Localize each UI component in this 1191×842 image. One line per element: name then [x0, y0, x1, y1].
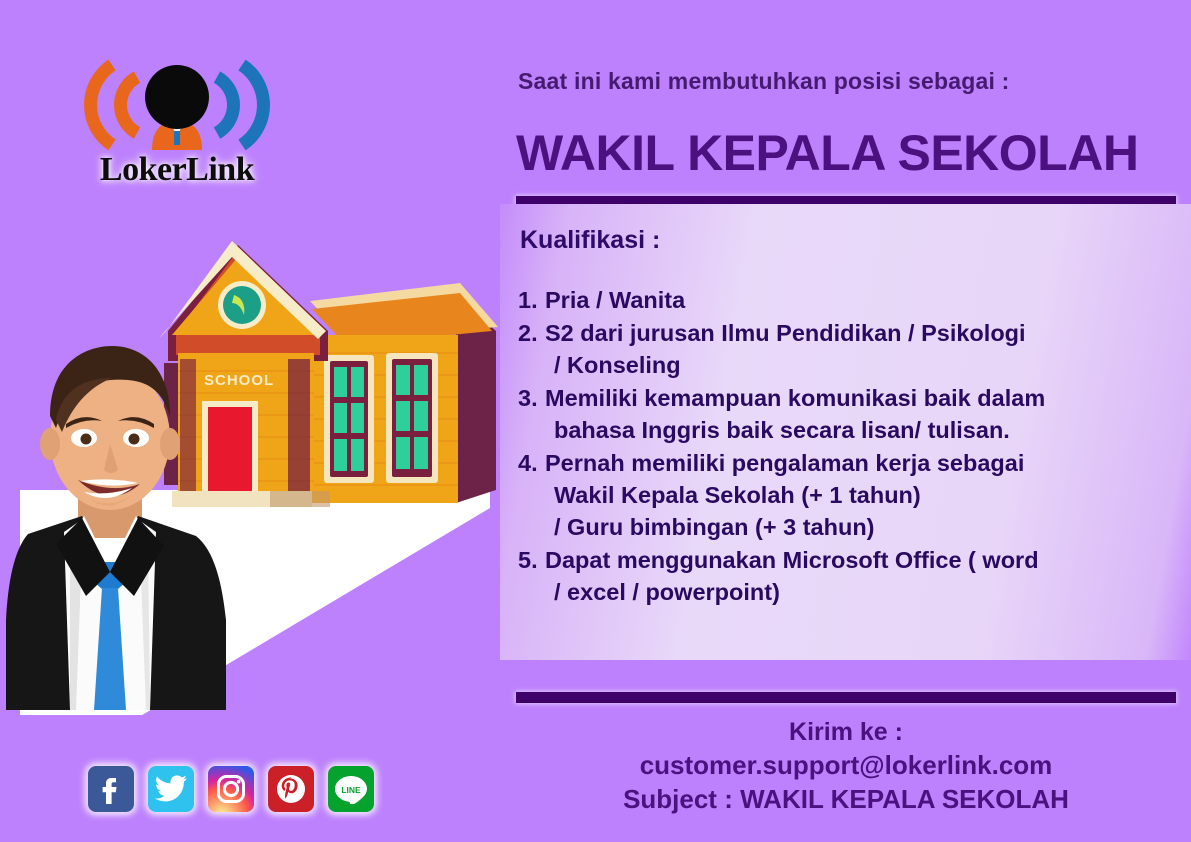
qualifications-heading: Kualifikasi :	[520, 226, 660, 255]
list-item-line: Pria / Wanita	[545, 287, 685, 313]
list-item: 3. Memiliki kemampuan komunikasi baik da…	[518, 382, 1168, 446]
list-item-body: S2 dari jurusan Ilmu Pendidikan / Psikol…	[545, 317, 1168, 381]
qualifications-list: 1. Pria / Wanita 2. S2 dari jurusan Ilmu…	[518, 284, 1168, 609]
list-item-line: Dapat menggunakan Microsoft Office ( wor…	[545, 547, 1039, 573]
facebook-icon[interactable]	[88, 766, 134, 812]
list-item: 1. Pria / Wanita	[518, 284, 1168, 316]
list-item-line: S2 dari jurusan Ilmu Pendidikan / Psikol…	[545, 320, 1026, 346]
content-column: Saat ini kami membutuhkan posisi sebagai…	[500, 0, 1191, 842]
businessman-illustration	[0, 320, 240, 710]
twitter-icon[interactable]	[148, 766, 194, 812]
list-item-line: bahasa Inggris baik secara lisan/ tulisa…	[545, 414, 1168, 446]
list-item-body: Dapat menggunakan Microsoft Office ( wor…	[545, 544, 1168, 608]
job-poster: LokerLink	[0, 0, 1191, 842]
contact-email[interactable]: customer.support@lokerlink.com	[516, 748, 1176, 782]
brand-name: LokerLink	[82, 151, 272, 189]
line-icon[interactable]: LINE	[328, 766, 374, 812]
list-item-number: 3.	[518, 382, 545, 446]
list-item-body: Pria / Wanita	[545, 284, 1168, 316]
list-item-number: 1.	[518, 284, 545, 316]
list-item: 2. S2 dari jurusan Ilmu Pendidikan / Psi…	[518, 317, 1168, 381]
signal-waves-person-icon	[82, 55, 272, 155]
school-window	[324, 355, 374, 483]
list-item-line: / Guru bimbingan (+ 3 tahun)	[545, 511, 1168, 543]
list-item: 4. Pernah memiliki pengalaman kerja seba…	[518, 447, 1168, 543]
illustration-group: SCHOOL	[0, 225, 500, 715]
list-item-number: 5.	[518, 544, 545, 608]
school-window	[386, 353, 438, 483]
list-item-line: Wakil Kepala Sekolah (+ 1 tahun)	[545, 479, 1168, 511]
list-item-line: / Konseling	[545, 349, 1168, 381]
email-subject: Subject : WAKIL KEPALA SEKOLAH	[516, 782, 1176, 816]
list-item-line: Pernah memiliki pengalaman kerja sebagai	[545, 450, 1024, 476]
list-item-line: / excel / powerpoint)	[545, 576, 1168, 608]
list-item-body: Pernah memiliki pengalaman kerja sebagai…	[545, 447, 1168, 543]
send-to-label: Kirim ke :	[516, 716, 1176, 748]
kicker-text: Saat ini kami membutuhkan posisi sebagai…	[518, 68, 1178, 95]
qualifications-panel: Kualifikasi : 1. Pria / Wanita 2. S2 dar…	[500, 204, 1191, 660]
brand-logo: LokerLink	[82, 55, 272, 195]
divider-bottom	[516, 692, 1176, 703]
contact-block: Kirim ke : customer.support@lokerlink.co…	[516, 716, 1176, 816]
list-item-line: Memiliki kemampuan komunikasi baik dalam	[545, 385, 1045, 411]
page-title: WAKIL KEPALA SEKOLAH	[516, 124, 1186, 182]
list-item-body: Memiliki kemampuan komunikasi baik dalam…	[545, 382, 1168, 446]
list-item-number: 2.	[518, 317, 545, 381]
list-item: 5. Dapat menggunakan Microsoft Office ( …	[518, 544, 1168, 608]
pinterest-icon[interactable]	[268, 766, 314, 812]
svg-text:LINE: LINE	[341, 785, 361, 795]
list-item-number: 4.	[518, 447, 545, 543]
instagram-icon[interactable]	[208, 766, 254, 812]
social-icons-row: LINE	[88, 766, 374, 812]
